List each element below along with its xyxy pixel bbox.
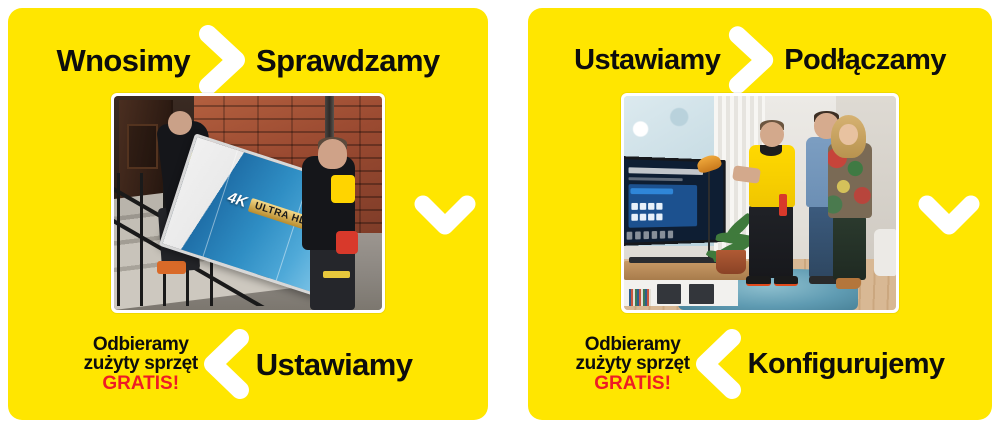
panel-1-step-to-label: Sprawdzamy (256, 45, 440, 76)
chevron-down-icon (412, 193, 478, 239)
tv-setup-option-row-2 (631, 214, 662, 221)
chevron-left-icon (198, 327, 254, 401)
panel-1-footer-step-label: Ustawiamy (256, 349, 413, 380)
tv-badge-4k: 4K (226, 190, 249, 210)
panel-2-recycle-free-badge: GRATIS! (576, 374, 690, 393)
floor-lamp-pole (708, 164, 710, 258)
panel-2-footer-row: Odbieramy zużyty sprzęt GRATIS! Konfigur… (528, 322, 992, 406)
worker-front-sleeve (331, 175, 355, 203)
panel-2-step-from-label: Ustawiamy (574, 46, 720, 75)
console-cube-left (657, 284, 681, 303)
worker-front-head (318, 139, 347, 169)
infographic-stage: Wnosimy Sprawdzamy (0, 0, 1000, 429)
panel-1-photo-frame: 4K ULTRA HD (111, 93, 385, 313)
panel-1-recycling-note: Odbieramy zużyty sprzęt GRATIS! (84, 335, 198, 393)
technician-trousers (749, 205, 793, 278)
chevron-right-icon (196, 24, 250, 96)
technician-shoe-right (774, 276, 798, 287)
customer-woman-trousers (833, 216, 866, 280)
panel-2-photo-frame (621, 93, 899, 313)
technician-tool-pouch (779, 194, 787, 215)
tv-setup-title-bar (628, 168, 702, 176)
tv-onscreen-keyboard (626, 230, 673, 239)
panel-1-footer-row: Odbieramy zużyty sprzęt GRATIS! Ustawiam… (8, 322, 488, 406)
worker-rear-shoe (157, 261, 186, 274)
tv-setup-primary-button (630, 188, 672, 195)
sofa-edge (874, 229, 896, 276)
service-step-panel-2: Ustawiamy Podłączamy (528, 8, 992, 420)
panel-2-recycling-note: Odbieramy zużyty sprzęt GRATIS! (576, 335, 690, 393)
panel-1-recycle-free-badge: GRATIS! (84, 374, 198, 393)
panel-1-step-from-label: Wnosimy (56, 45, 190, 76)
customer-woman-face (839, 124, 858, 145)
tv-carton-badge: 4K ULTRA HD (226, 190, 315, 232)
panel-2-recycle-line-1: Odbieramy (576, 335, 690, 354)
panel-1-recycle-line-2: zużyty sprzęt (84, 354, 198, 373)
customer-woman-shoe (836, 278, 860, 289)
console-cube-right (689, 284, 713, 303)
panel-2-footer-step-label: Konfigurujemy (748, 350, 945, 379)
worker-front-leg-stripe (323, 271, 350, 277)
shelf-books (629, 289, 651, 306)
worker-rear-head (168, 111, 192, 135)
technician-shoe-left (746, 276, 770, 287)
photo-delivery-carrying-tv: 4K ULTRA HD (114, 96, 382, 310)
panel-2-header-row: Ustawiamy Podłączamy (528, 32, 992, 88)
tv-setup-option-row-1 (631, 202, 662, 209)
chevron-right-icon (726, 25, 778, 95)
plant-pot (716, 250, 746, 274)
photo-livingroom-tv-setup (624, 96, 896, 310)
panel-1-recycle-line-1: Odbieramy (84, 335, 198, 354)
chevron-down-icon (916, 193, 982, 239)
panel-2-step-to-label: Podłączamy (784, 46, 946, 75)
technician-arm (732, 165, 761, 184)
tv-setup-subtitle-bar (628, 177, 683, 181)
door-panel (127, 124, 158, 169)
panel-1-header-row: Wnosimy Sprawdzamy (8, 32, 488, 88)
chevron-left-icon (690, 327, 746, 401)
worker-front-glove (336, 231, 357, 255)
service-step-panel-1: Wnosimy Sprawdzamy (8, 8, 488, 420)
panel-2-recycle-line-2: zużyty sprzęt (576, 354, 690, 373)
